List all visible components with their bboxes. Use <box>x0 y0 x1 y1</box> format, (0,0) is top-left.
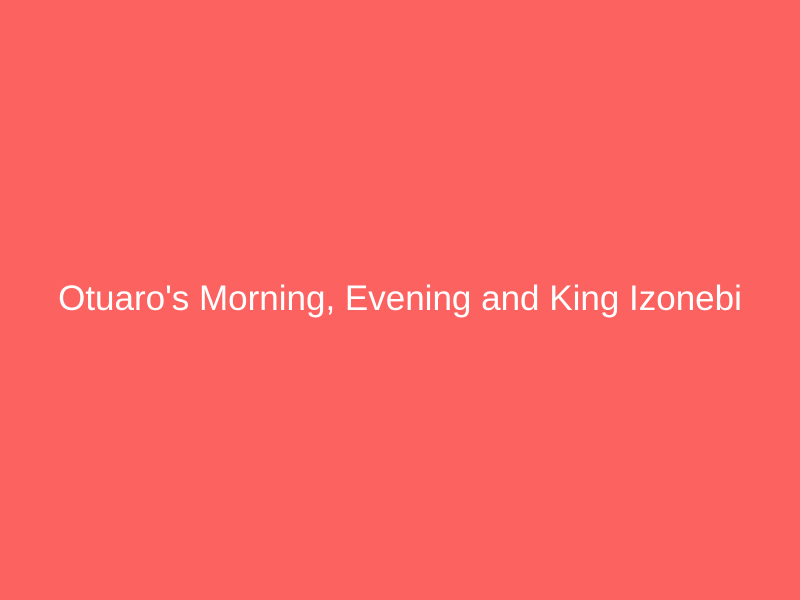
banner-title-text: Otuaro's Morning, Evening and King Izone… <box>58 278 742 320</box>
placeholder-banner: Otuaro's Morning, Evening and King Izone… <box>0 0 800 600</box>
